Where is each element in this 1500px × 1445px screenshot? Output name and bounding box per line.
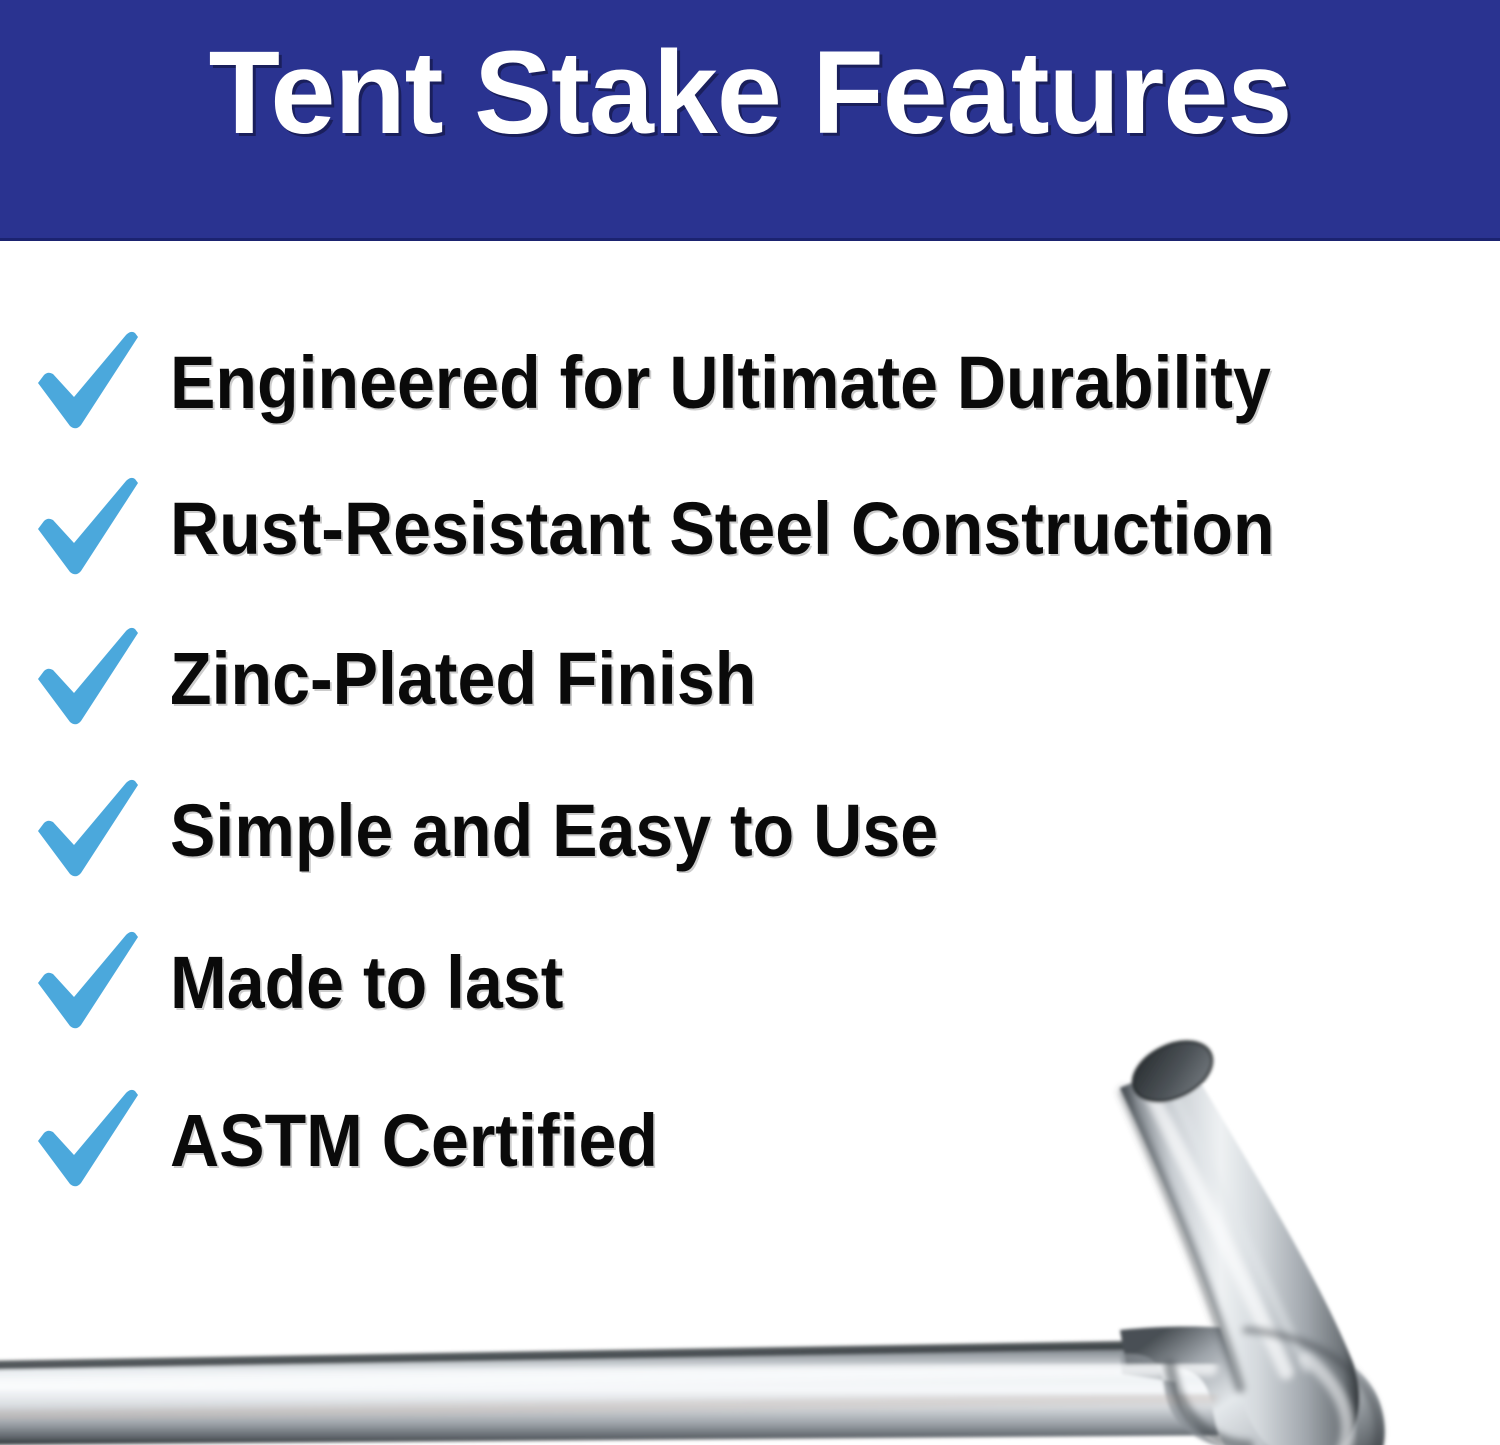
check-icon (30, 927, 148, 1039)
check-icon (30, 1085, 148, 1197)
list-item: Engineered for Ultimate Durability (30, 323, 1367, 443)
check-icon (30, 473, 148, 585)
list-item-label: Made to last (170, 946, 563, 1020)
list-item: Rust-Resistant Steel Construction (30, 469, 1371, 589)
list-item: ASTM Certified (30, 1081, 700, 1201)
check-icon (30, 327, 148, 439)
feature-list: Engineered for Ultimate Durability Rust-… (0, 241, 1500, 1445)
list-item-label: Simple and Easy to Use (170, 794, 938, 868)
list-item-label: ASTM Certified (170, 1104, 658, 1178)
page-title: Tent Stake Features (8, 30, 1493, 157)
header-banner: Tent Stake Features (0, 0, 1500, 238)
list-item-label: Zinc-Plated Finish (170, 642, 756, 716)
list-item: Zinc-Plated Finish (30, 619, 807, 739)
list-item: Made to last (30, 923, 598, 1043)
list-item-label: Rust-Resistant Steel Construction (170, 492, 1275, 566)
check-icon (30, 775, 148, 887)
list-item-label: Engineered for Ultimate Durability (170, 346, 1271, 420)
check-icon (30, 623, 148, 735)
list-item: Simple and Easy to Use (30, 771, 1005, 891)
